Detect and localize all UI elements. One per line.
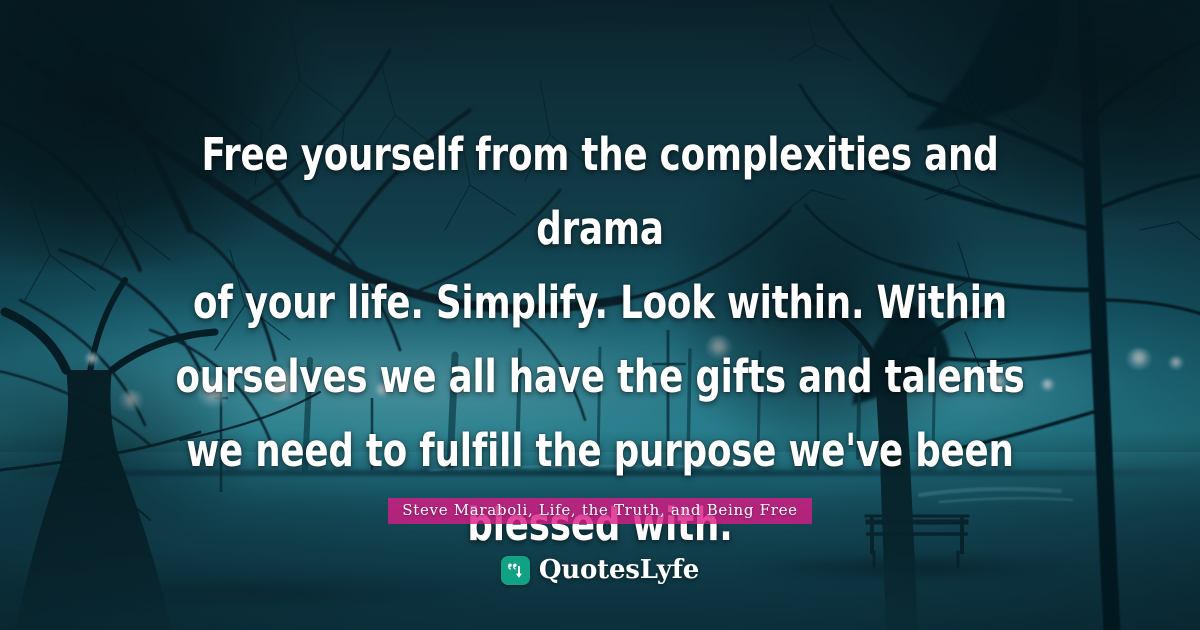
site-logo[interactable]: QuotesLyfe: [0, 556, 1200, 585]
quote-card: Free yourself from the complexities and …: [0, 0, 1200, 630]
attribution-row: Steve Maraboli, Life, the Truth, and Bei…: [0, 498, 1200, 524]
quote-mark-icon: [501, 556, 530, 585]
quote-text: Free yourself from the complexities and …: [72, 118, 1128, 562]
attribution-badge: Steve Maraboli, Life, the Truth, and Bei…: [388, 498, 812, 524]
site-logo-text: QuotesLyfe: [539, 556, 699, 585]
